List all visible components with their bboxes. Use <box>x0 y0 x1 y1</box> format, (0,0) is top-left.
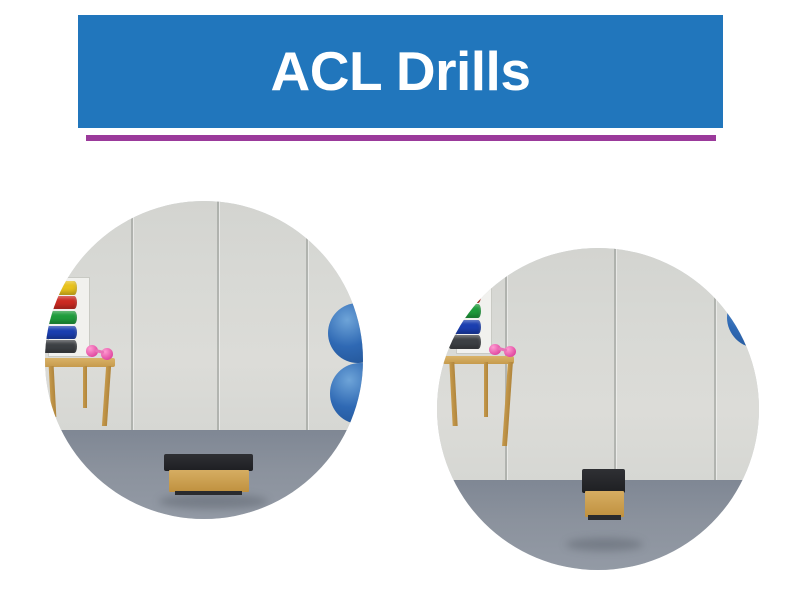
shirt-collar <box>45 201 47 203</box>
foam-roller-black <box>448 335 481 349</box>
foam-roller-green <box>448 304 481 318</box>
gym-scene-standing <box>45 201 363 519</box>
foam-roller-blue <box>448 320 481 334</box>
step-platform-base <box>175 491 242 495</box>
foam-roller-rack <box>48 277 89 357</box>
gym-wall <box>45 201 363 430</box>
foam-roller-rack <box>456 271 491 355</box>
foam-roller-blue <box>45 326 77 339</box>
step-platform-top <box>582 469 625 493</box>
foam-roller-red <box>448 289 481 303</box>
wall-seam <box>131 201 133 430</box>
table-leg <box>484 362 488 417</box>
wall-seam <box>217 201 219 430</box>
standing-on-step-photo <box>45 201 363 519</box>
foam-roller-red <box>45 296 77 309</box>
wall-seam <box>614 248 616 480</box>
step-platform-body <box>169 470 249 492</box>
step-platform-body <box>585 491 624 517</box>
wall-seam <box>306 201 308 430</box>
foam-roller-black <box>45 340 77 353</box>
title-accent-underline <box>86 135 716 141</box>
step-platform-top <box>164 454 253 471</box>
foam-roller-yellow <box>448 273 481 287</box>
pink-dumbbells <box>86 343 115 362</box>
page-title: ACL Drills <box>271 44 531 99</box>
step-shadow <box>566 538 643 551</box>
step-platform-base <box>588 515 620 520</box>
shirt-collar <box>437 248 439 250</box>
gym-scene-squat <box>437 248 759 570</box>
pink-dumbbells <box>489 341 518 359</box>
table-leg <box>83 366 87 407</box>
wall-seam <box>714 248 716 480</box>
foam-roller-green <box>45 311 77 324</box>
foam-roller-yellow <box>45 281 77 294</box>
seated-squat-photo <box>437 248 759 570</box>
title-banner: ACL Drills <box>78 15 723 128</box>
